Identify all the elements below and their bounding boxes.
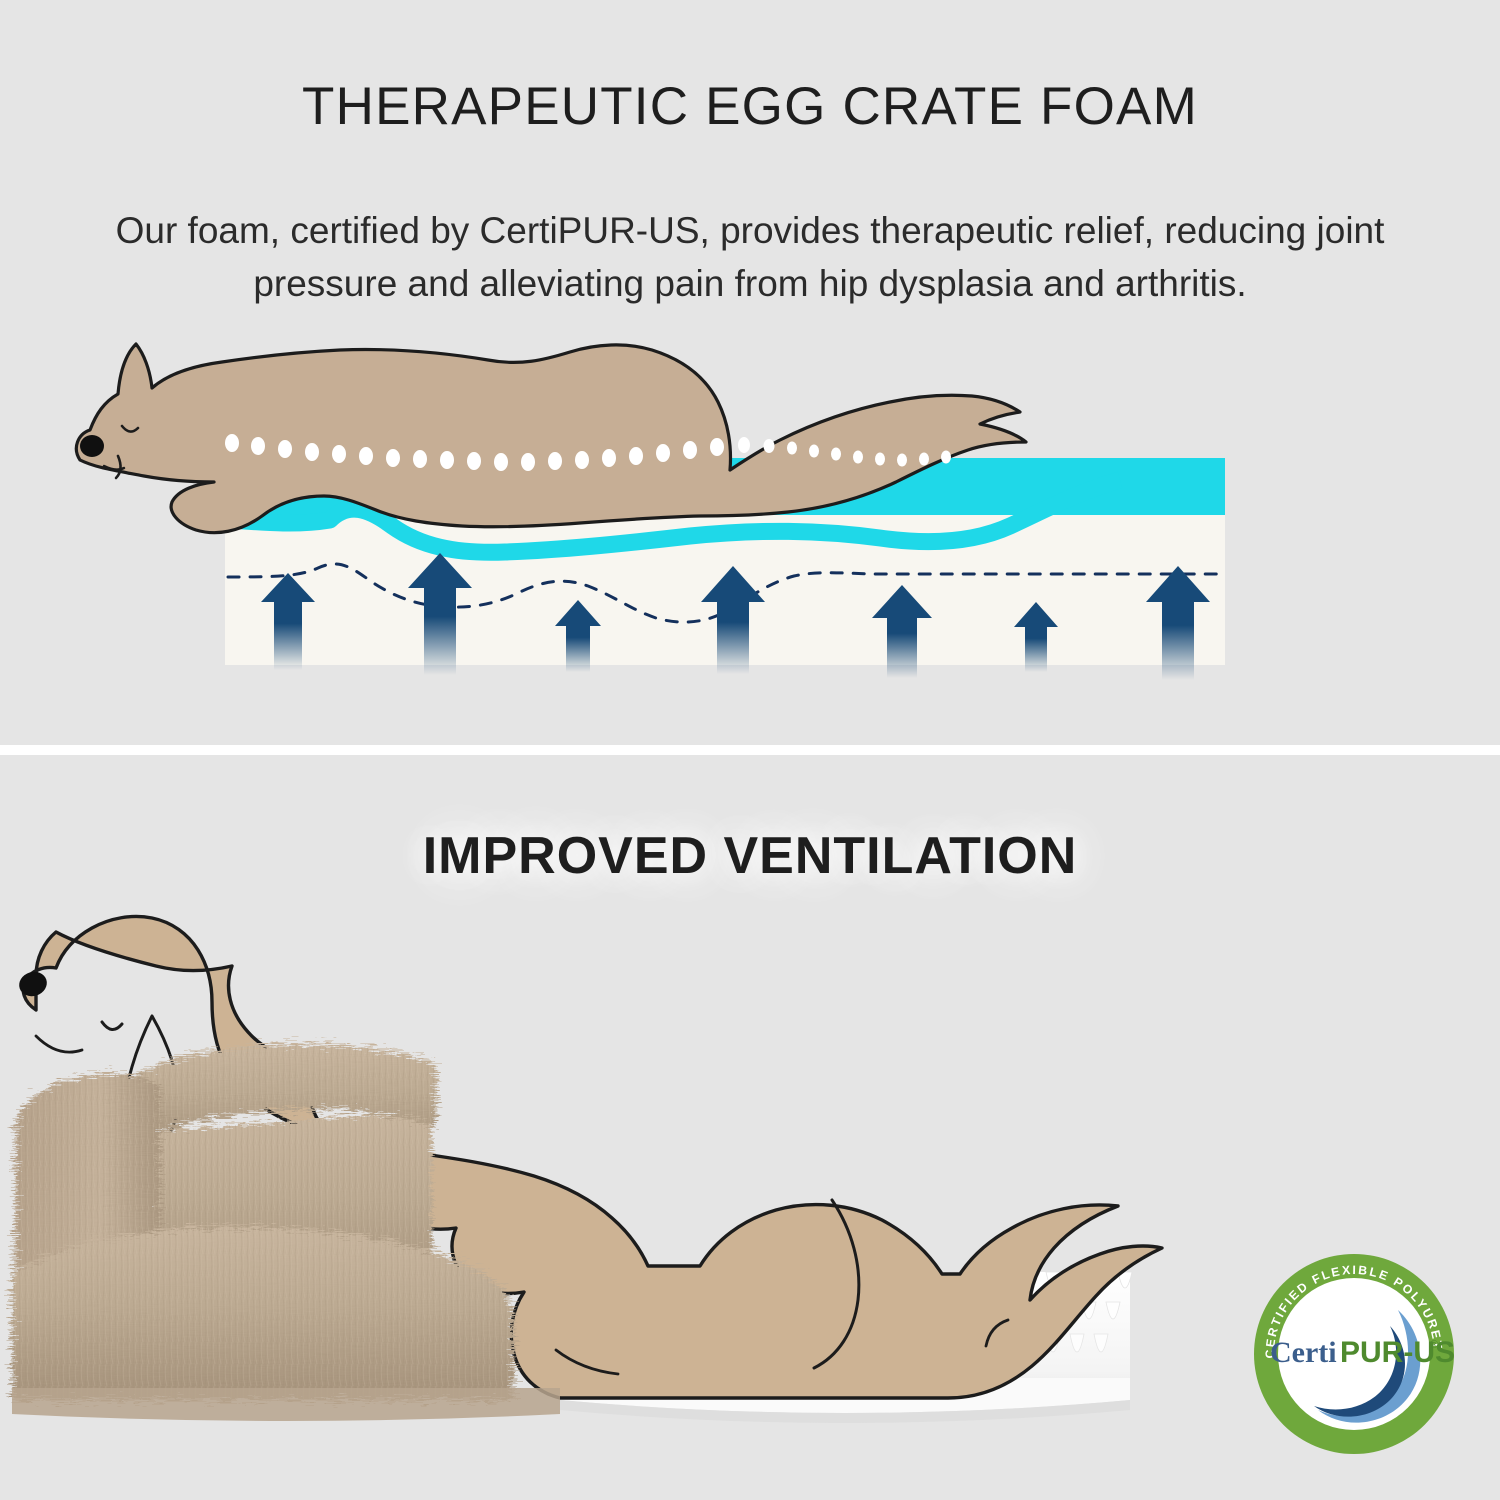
- badge-registered-mark: ®: [1430, 1339, 1438, 1351]
- therapeutic-foam-section: THERAPEUTIC EGG CRATE FOAM Our foam, cer…: [0, 0, 1500, 745]
- bed-base-shadow: [12, 1388, 560, 1421]
- ventilation-title: IMPROVED VENTILATION: [0, 828, 1500, 885]
- badge-wordmark: Certi PUR-US ®: [1270, 1336, 1455, 1369]
- dog-on-foam-cross-section: [0, 330, 1500, 730]
- page-title: THERAPEUTIC EGG CRATE FOAM: [0, 78, 1500, 136]
- dog-nose: [16, 968, 50, 999]
- certipur-us-seal: CONTAINS CERTIFIED FLEXIBLE POLYURETHANE…: [1248, 1248, 1460, 1460]
- foam-description: Our foam, certified by CertiPUR-US, prov…: [0, 205, 1500, 310]
- dog-mouth-line: [36, 1036, 82, 1052]
- bed-front-bolster-texture: [12, 1227, 514, 1400]
- dog-eye: [102, 1022, 122, 1030]
- section-divider: [0, 745, 1500, 755]
- badge-wordmark-first: Certi: [1270, 1336, 1337, 1369]
- dog-nose: [80, 435, 104, 457]
